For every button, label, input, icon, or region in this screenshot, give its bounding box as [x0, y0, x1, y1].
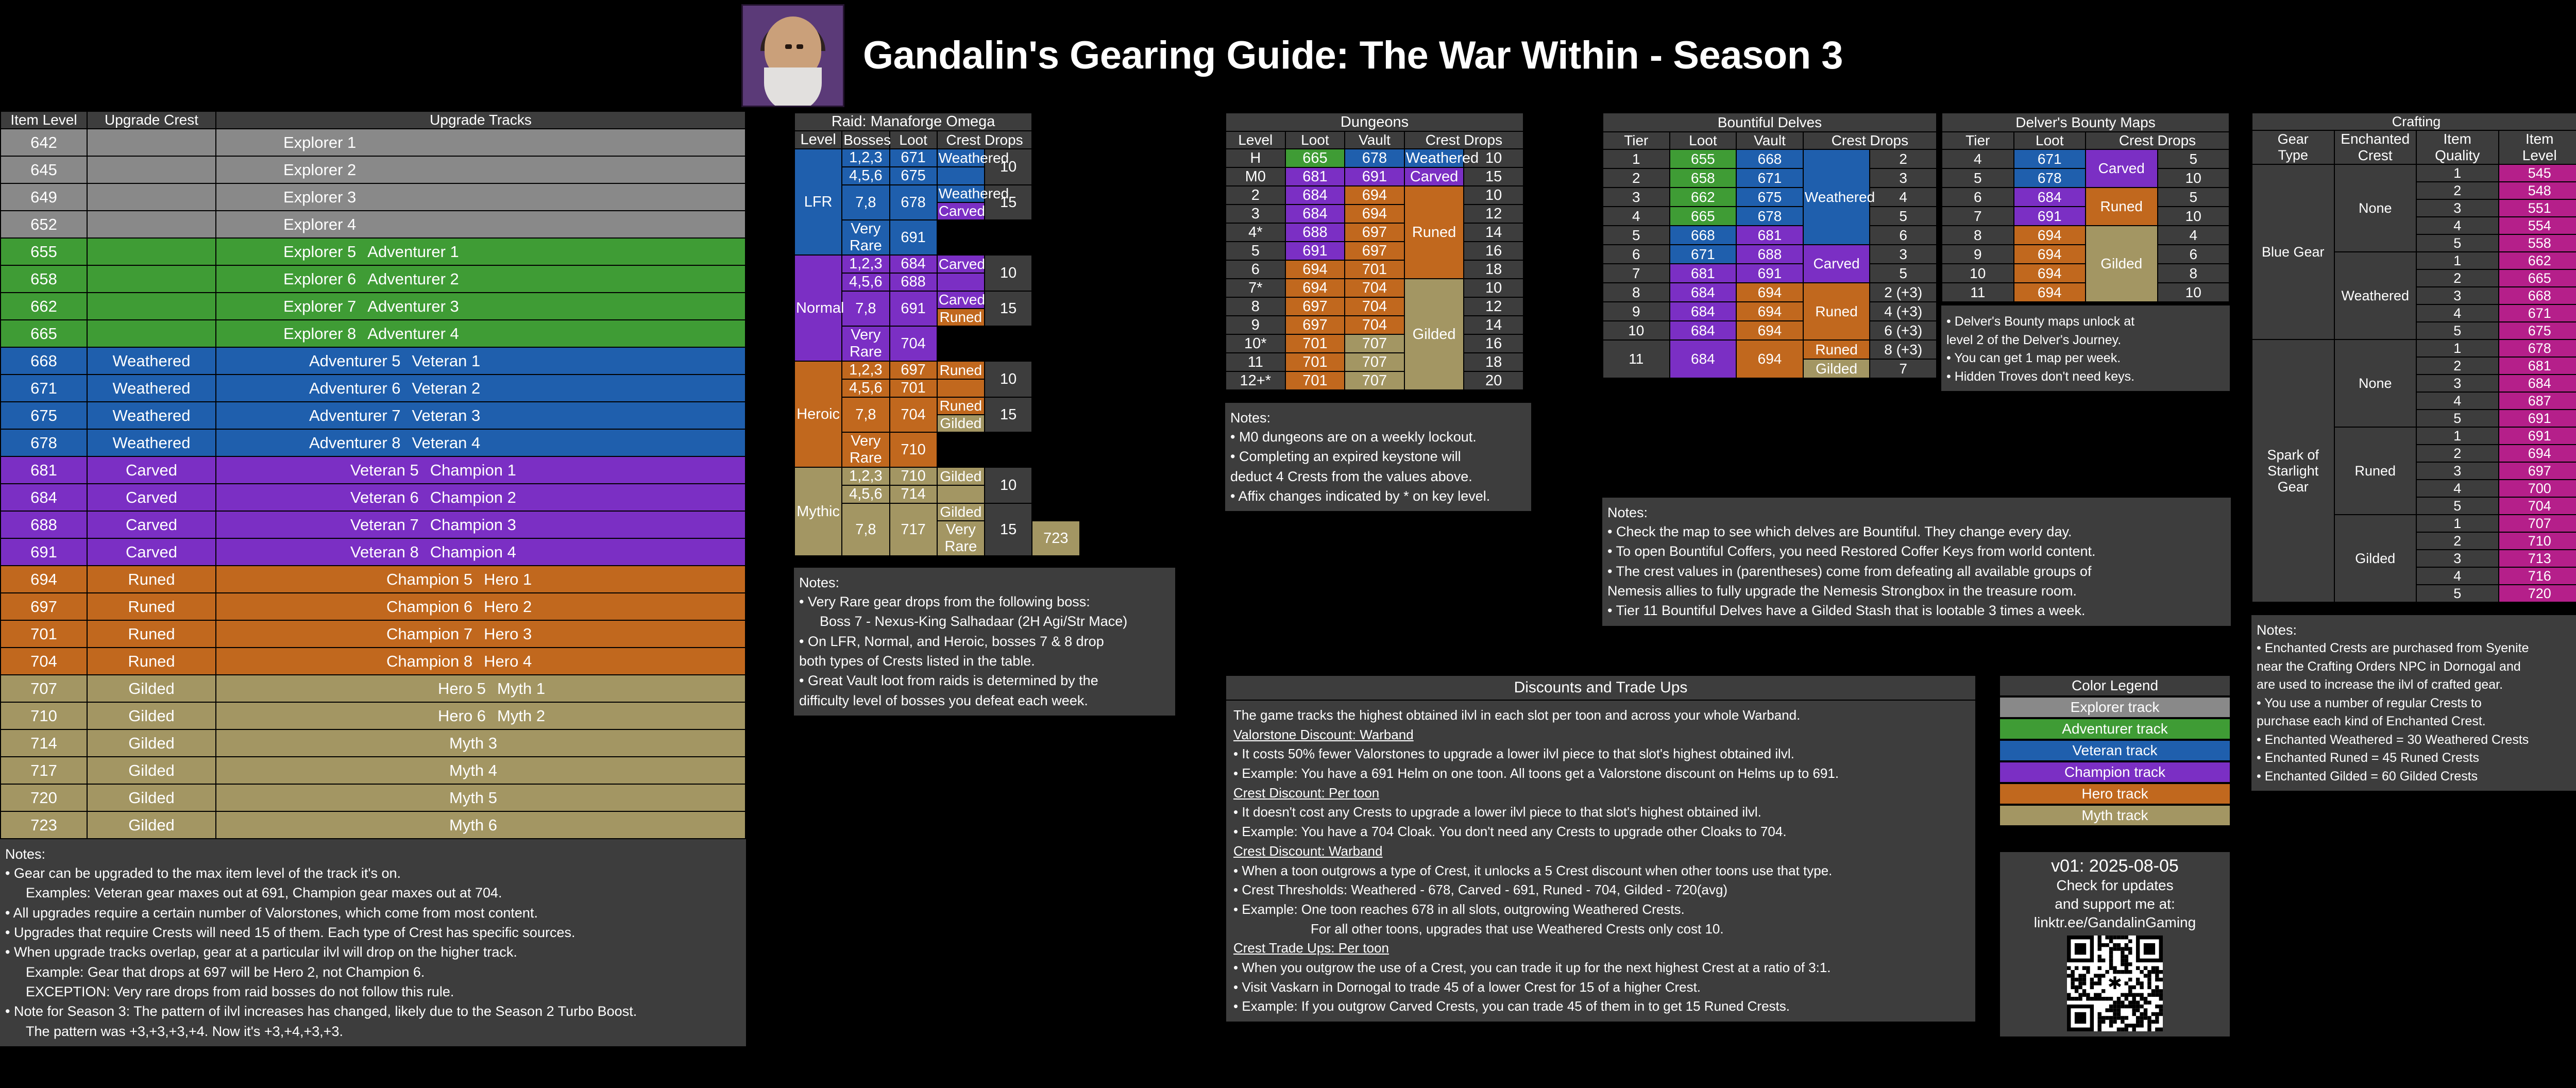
cell-item-level: 548	[2499, 182, 2576, 199]
track-primary: Explorer 5	[283, 243, 356, 261]
cell-loot: 701	[1285, 353, 1345, 371]
cell-bosses: 1,2,3	[842, 467, 889, 485]
track-primary: Hero 6	[438, 707, 486, 725]
cell-crest-count: 4	[2158, 226, 2230, 245]
cell-upgrade-crest: Weathered	[87, 429, 216, 456]
cell-item-quality: 2	[2416, 182, 2499, 199]
table-row: 694RunedChampion 5Hero 1	[1, 566, 745, 593]
col-item-level: Item Level	[1, 111, 87, 129]
cell-crest-count: 18	[1464, 260, 1523, 279]
cell-crest-count: 4 (+3)	[1870, 302, 1937, 321]
cell-tier: 7	[1603, 264, 1670, 283]
cell-vault: 668	[1736, 149, 1803, 168]
cell-item-quality: 4	[2416, 392, 2499, 410]
discount-line: • It doesn't cost any Crests to upgrade …	[1233, 803, 1968, 822]
cell-item-quality: 1	[2416, 515, 2499, 532]
cell-upgrade-crest: Gilded	[87, 675, 216, 702]
cell-crest-cont	[937, 167, 985, 185]
cell-crest: Gilded	[937, 415, 985, 432]
cell-crest-count: 5	[1870, 207, 1937, 226]
table-row: 668WeatheredAdventurer 5Veteran 1	[1, 347, 745, 375]
legend-item-myth: Myth track	[1999, 805, 2231, 826]
version-box: v01: 2025-08-05 Check for updates and su…	[1999, 851, 2231, 1038]
cell-vault: 694	[1736, 283, 1803, 302]
cell-vault: 697	[1345, 223, 1404, 242]
table-row: 691CarvedVeteran 8Champion 4	[1, 538, 745, 566]
cell-crest: Runed	[2086, 188, 2158, 226]
cell-crest: Carved	[937, 255, 985, 273]
cell-crest: Gilded	[1803, 359, 1870, 378]
cell-crest-count: 10	[1464, 279, 1523, 297]
cell-tier: 2	[1603, 168, 1670, 188]
cell-enchanted-crest: Runed	[2334, 427, 2417, 515]
cell-item-quality: 3	[2416, 287, 2499, 304]
cell-upgrade-tracks: Champion 5Hero 1	[216, 566, 745, 593]
track-primary: Veteran 8	[350, 543, 419, 562]
cell-item-level: 700	[2499, 480, 2576, 497]
cell-loot: 681	[1285, 167, 1345, 186]
track-primary: Veteran 7	[350, 516, 419, 534]
table-row: 678WeatheredAdventurer 8Veteran 4	[1, 429, 745, 456]
table-row: 714GildedMyth 3	[1, 729, 745, 757]
table-row: 7,8717Gilded15	[794, 503, 1175, 521]
cell-loot: 684	[1285, 205, 1345, 223]
note-line: • Enchanted Crests are purchased from Sy…	[2257, 639, 2576, 658]
cell-vault: 697	[1345, 242, 1404, 260]
cell-count-empty	[985, 220, 1032, 255]
upgrade-tracks-table: Item LevelUpgrade CrestUpgrade Tracks642…	[0, 111, 746, 839]
cell-level: H	[1226, 149, 1285, 167]
table-row: Spark of Starlight GearNone1678	[2252, 339, 2576, 357]
note-line: • Delver's Bounty maps unlock at	[1946, 313, 2225, 331]
discount-line: For all other toons, upgrades that use W…	[1233, 920, 1968, 939]
table-row: 675WeatheredAdventurer 7Veteran 3	[1, 402, 745, 429]
cell-loot: 665	[1285, 149, 1345, 167]
cell-crest: Gilded	[1404, 279, 1464, 390]
version-note-line1: Check for updates	[2005, 876, 2225, 895]
cell-item-quality: 1	[2416, 164, 2499, 182]
cell-bosses: 1,2,3	[842, 361, 889, 379]
cell-crest-empty	[937, 220, 985, 255]
cell-loot: 694	[2014, 226, 2086, 245]
cell-upgrade-tracks: Champion 7Hero 3	[216, 620, 745, 648]
cell-level: 10*	[1226, 334, 1285, 353]
cell-vault: 704	[1345, 279, 1404, 297]
qr-code[interactable]: ✱	[2067, 936, 2163, 1031]
track-secondary: Veteran 4	[412, 434, 481, 452]
cell-tier: 9	[1603, 302, 1670, 321]
note-line: • When upgrade tracks overlap, gear at a…	[5, 942, 741, 962]
cell-upgrade-crest: Runed	[87, 648, 216, 675]
cell-upgrade-tracks: Veteran 7Champion 3	[216, 511, 745, 538]
cell-upgrade-tracks: Champion 6Hero 2	[216, 593, 745, 620]
cell-crest: Runed	[937, 397, 985, 415]
table-row: 652Explorer 4	[1, 211, 745, 238]
cell-upgrade-crest: Carved	[87, 511, 216, 538]
cell-enchanted-crest: Weathered	[2334, 252, 2417, 339]
discount-line: • When you outgrow the use of a Crest, y…	[1233, 958, 1968, 978]
cell-item-level: 691	[2499, 410, 2576, 427]
cell-item-quality: 1	[2416, 252, 2499, 269]
note-line: • All upgrades require a certain number …	[5, 903, 741, 923]
col-gear-type: GearType	[2252, 130, 2334, 164]
table-row: Very Rare710	[794, 432, 1175, 467]
discount-line: • Example: One toon reaches 678 in all s…	[1233, 900, 1968, 920]
discounts-panel: Discounts and Trade Ups The game tracks …	[1225, 675, 1976, 1023]
note-line: • Gear can be upgraded to the max item l…	[5, 863, 741, 883]
table-row: 645Explorer 2	[1, 156, 745, 183]
table-row: 7,8704Runed15	[794, 397, 1175, 415]
cell-tier: 4	[1942, 149, 2014, 168]
cell-level: 2	[1226, 186, 1285, 205]
cell-item-level: 642	[1, 129, 87, 156]
version-note-line2: and support me at:	[2005, 895, 2225, 913]
note-line: level 2 of the Delver's Journey.	[1946, 331, 2225, 350]
col-enchanted-crest: EnchantedCrest	[2334, 130, 2417, 164]
cell-item-level: 687	[2499, 392, 2576, 410]
cell-level: 4*	[1226, 223, 1285, 242]
cell-upgrade-crest: Gilded	[87, 784, 216, 811]
table-row: 6684Runed5	[1942, 188, 2229, 207]
cell-upgrade-tracks: Explorer 7Adventurer 3	[216, 293, 745, 320]
cell-item-level: 655	[1, 238, 87, 265]
cell-upgrade-tracks: Explorer 2	[216, 156, 745, 183]
cell-enchanted-crest: None	[2334, 164, 2417, 252]
cell-crest-cont	[937, 485, 985, 503]
cell-item-level: 684	[2499, 375, 2576, 392]
cell-crest-count: 3	[1870, 245, 1937, 264]
cell-item-level: 716	[2499, 567, 2576, 585]
table-row: 2684694Runed10	[1226, 186, 1523, 205]
crafting-table: CraftingGearTypeEnchantedCrestItemQualit…	[2251, 112, 2576, 603]
avatar-eye-right-icon	[796, 44, 803, 49]
cell-loot: 701	[1285, 334, 1345, 353]
track-secondary: Champion 2	[430, 488, 516, 507]
cell-crest: Carved	[937, 202, 985, 220]
note-line: • Enchanted Gilded = 60 Gilded Crests	[2257, 768, 2576, 786]
cell-level: M0	[1226, 167, 1285, 186]
cell-level: Normal	[794, 255, 842, 361]
color-legend-title: Color Legend	[1999, 675, 2231, 696]
cell-item-quality: 2	[2416, 357, 2499, 375]
track-primary: Adventurer 5	[309, 352, 401, 370]
cell-loot: 688	[1285, 223, 1345, 242]
table-row: 36626754	[1603, 188, 1937, 207]
cell-upgrade-crest	[87, 265, 216, 293]
discount-line: • It costs 50% fewer Valorstones to upgr…	[1233, 744, 1968, 764]
table-row: 1170170718	[1226, 353, 1523, 371]
col-vault: Vault	[1345, 131, 1404, 149]
table-row: Heroic1,2,3697Runed10	[794, 361, 1175, 379]
cell-crest-count: 2 (+3)	[1870, 283, 1937, 302]
delvers-bounty-maps-panel: Delver's Bounty MapsTierLootCrest Drops4…	[1941, 112, 2230, 391]
cell-crest-count: 15	[985, 503, 1032, 556]
cell-bosses: 7,8	[842, 185, 889, 220]
cell-crest: Carved	[1803, 245, 1870, 283]
cell-item-quality: 2	[2416, 532, 2499, 550]
track-primary: Explorer 2	[283, 161, 356, 179]
delves-notes: Notes:• Check the map to see which delve…	[1602, 498, 2231, 626]
note-line: • Completing an expired keystone will	[1230, 447, 1526, 466]
table-row: 7,8678Weathered15	[794, 185, 1175, 202]
cell-item-level: 678	[1, 429, 87, 456]
table-row: 1655668Weathered2	[1603, 149, 1937, 168]
cell-upgrade-crest	[87, 211, 216, 238]
table-row: 96846944 (+3)	[1603, 302, 1937, 321]
note-line: • You use a number of regular Crests to	[2257, 694, 2576, 713]
cell-item-level: 652	[1, 211, 87, 238]
crafting-notes: Notes:• Enchanted Crests are purchased f…	[2251, 615, 2576, 791]
cell-upgrade-crest: Runed	[87, 566, 216, 593]
cell-crest: Gilded	[937, 503, 985, 521]
cell-upgrade-tracks: Explorer 1	[216, 129, 745, 156]
cell-loot: 684	[1670, 302, 1737, 321]
table-row: 658Explorer 6Adventurer 2	[1, 265, 745, 293]
table-row: 56686816	[1603, 226, 1937, 245]
note-line: near the Crafting Orders NPC in Dornogal…	[2257, 658, 2576, 676]
cell-upgrade-crest: Gilded	[87, 811, 216, 839]
legend-item-hero: Hero track	[1999, 783, 2231, 805]
cell-item-quality: 2	[2416, 445, 2499, 462]
cell-level: 12+*	[1226, 371, 1285, 390]
cell-level: 5	[1226, 242, 1285, 260]
cell-crest-count: 8 (+3)	[1870, 340, 1937, 359]
table-row: 7,8691Carved15	[794, 291, 1175, 309]
col-vault: Vault	[1736, 132, 1803, 149]
col-tier: Tier	[1603, 132, 1670, 149]
cell-crest-count: 5	[1870, 264, 1937, 283]
discount-line: • When a toon outgrows a type of Crest, …	[1233, 861, 1968, 881]
track-primary: Adventurer 7	[309, 406, 401, 425]
legend-item-champion: Champion track	[1999, 761, 2231, 783]
table-row: 10*70170716	[1226, 334, 1523, 353]
dungeons-panel: DungeonsLevelLootVaultCrest DropsH665678…	[1225, 112, 1524, 511]
note-line: • You can get 1 map per week.	[1946, 349, 2225, 368]
cell-item-level: 691	[1, 538, 87, 566]
cell-loot: 701	[890, 379, 937, 397]
cell-gear-type: Spark of Starlight Gear	[2252, 339, 2334, 602]
cell-level: 11	[1226, 353, 1285, 371]
track-primary: Veteran 5	[350, 461, 419, 480]
cell-upgrade-tracks: Explorer 5Adventurer 1	[216, 238, 745, 265]
note-line: • Enchanted Runed = 45 Runed Crests	[2257, 749, 2576, 768]
cell-tier: 9	[1942, 245, 2014, 264]
table-row: Mythic1,2,3710Gilded10	[794, 467, 1175, 485]
table-row: 869770412	[1226, 297, 1523, 316]
cell-enchanted-crest: Gilded	[2334, 515, 2417, 602]
cell-crest-count: 2	[1870, 149, 1937, 168]
cell-item-level: 681	[1, 456, 87, 484]
cell-tier: 5	[1603, 226, 1670, 245]
cell-enchanted-crest: None	[2334, 339, 2417, 427]
cell-item-level: 668	[1, 347, 87, 375]
cell-crest-count: 10	[2158, 207, 2230, 226]
cell-item-quality: 3	[2416, 375, 2499, 392]
dungeons-title: Dungeons	[1226, 113, 1523, 131]
cell-bosses: 4,5,6	[842, 167, 889, 185]
cell-item-quality: 1	[2416, 427, 2499, 445]
cell-crest: Weathered	[937, 185, 985, 202]
cell-upgrade-crest: Weathered	[87, 402, 216, 429]
cell-loot: 684	[1285, 186, 1345, 205]
col-item-quality: ItemQuality	[2416, 130, 2499, 164]
cell-upgrade-tracks: Myth 6	[216, 811, 745, 839]
cell-tier: 1	[1603, 149, 1670, 168]
svg-text:✱: ✱	[2108, 973, 2123, 994]
cell-crest: Runed	[1803, 283, 1870, 340]
track-primary: Explorer 7	[283, 297, 356, 316]
cell-item-level: 684	[1, 484, 87, 511]
cell-loot: 675	[890, 167, 937, 185]
track-primary: Explorer 3	[283, 188, 356, 207]
table-row: Normal1,2,3684Carved10	[794, 255, 1175, 273]
cell-vault: 707	[1345, 334, 1404, 353]
cell-tier: 8	[1603, 283, 1670, 302]
cell-item-level: 665	[2499, 269, 2576, 287]
cell-loot: 668	[1670, 226, 1737, 245]
cell-item-level: 645	[1, 156, 87, 183]
table-row: Very Rare691	[794, 220, 1175, 255]
cell-vault: 691	[1345, 167, 1404, 186]
cell-bosses: 4,5,6	[842, 273, 889, 291]
cell-item-level: 681	[2499, 357, 2576, 375]
delves-title: Bountiful Delves	[1603, 113, 1937, 132]
cell-upgrade-tracks: Veteran 8Champion 4	[216, 538, 745, 566]
note-line: EXCEPTION: Very rare drops from raid bos…	[5, 982, 741, 1001]
track-secondary: Myth 2	[497, 707, 545, 725]
discounts-title: Discounts and Trade Ups	[1225, 675, 1976, 701]
track-secondary: Adventurer 2	[367, 270, 459, 288]
cell-crest-count: 15	[985, 291, 1032, 326]
cell-item-level: 688	[1, 511, 87, 538]
track-secondary: Hero 1	[484, 570, 532, 589]
cell-crest-count: 10	[985, 361, 1032, 397]
discount-line: • Example: You have a 691 Helm on one to…	[1233, 764, 1968, 784]
notes-title: Notes:	[799, 575, 1170, 591]
avatar-beard-icon	[764, 67, 822, 107]
cell-loot: 691	[890, 291, 937, 326]
cell-item-quality: 4	[2416, 480, 2499, 497]
cell-crest-count: 5	[2158, 149, 2230, 168]
col-level: Level	[794, 131, 842, 149]
raid-table: Raid: Manaforge OmegaLevelBossesLootCres…	[794, 112, 1175, 556]
track-secondary: Champion 4	[430, 543, 516, 562]
cell-crest: Runed	[1803, 340, 1870, 359]
cell-upgrade-tracks: Explorer 4	[216, 211, 745, 238]
note-line: purchase each kind of Enchanted Crest.	[2257, 712, 2576, 731]
cell-crest-count: 12	[1464, 297, 1523, 316]
discount-line: • Visit Vaskarn in Dornogal to trade 45 …	[1233, 978, 1968, 997]
note-line: Examples: Veteran gear maxes out at 691,…	[5, 883, 741, 903]
cell-upgrade-crest: Weathered	[87, 347, 216, 375]
cell-crest-count: 6	[2158, 245, 2230, 264]
cell-loot: 704	[890, 326, 937, 361]
delvers-bounty-maps-table: Delver's Bounty MapsTierLootCrest Drops4…	[1941, 112, 2230, 302]
color-legend-panel: Color Legend Explorer trackAdventurer tr…	[1999, 675, 2231, 1038]
cell-crest: Carved	[2086, 149, 2158, 188]
cell-item-level: 665	[1, 320, 87, 347]
support-link[interactable]: linktr.ee/GandalinGaming	[2005, 913, 2225, 932]
cell-vault: 701	[1345, 260, 1404, 279]
table-row: Blue GearNone1545	[2252, 164, 2576, 182]
cell-tier: 11	[1942, 283, 2014, 302]
col-crest-drops: Crest Drops	[937, 131, 1032, 149]
col-crest-drops: Crest Drops	[1404, 131, 1523, 149]
table-row: 12+*70170720	[1226, 371, 1523, 390]
table-row: 569169716	[1226, 242, 1523, 260]
cell-loot: 691	[890, 220, 937, 255]
cell-vault: 675	[1736, 188, 1803, 207]
legend-item-adventurer: Adventurer track	[1999, 718, 2231, 740]
cell-item-level: 678	[2499, 339, 2576, 357]
cell-item-level: 694	[2499, 445, 2576, 462]
cell-loot: 710	[890, 432, 937, 467]
cell-loot: 694	[1285, 279, 1345, 297]
cell-item-quality: 3	[2416, 550, 2499, 567]
track-primary: Explorer 8	[283, 325, 356, 343]
cell-vault: 694	[1345, 186, 1404, 205]
col-level: Level	[1226, 131, 1285, 149]
cell-upgrade-tracks: Champion 8Hero 4	[216, 648, 745, 675]
cell-count-empty	[1127, 521, 1175, 556]
cell-upgrade-tracks: Explorer 6Adventurer 2	[216, 265, 745, 293]
cell-count-empty	[985, 432, 1032, 467]
note-line: Example: Gear that drops at 697 will be …	[5, 962, 741, 982]
table-row: 717GildedMyth 4	[1, 757, 745, 784]
cell-crest: Runed	[937, 361, 985, 379]
track-secondary: Adventurer 3	[367, 297, 459, 316]
track-primary: Champion 8	[386, 652, 472, 671]
note-line: • Hidden Troves don't need keys.	[1946, 368, 2225, 386]
cell-crest: Carved	[937, 291, 985, 309]
cell-upgrade-crest	[87, 238, 216, 265]
cell-tier: 11	[1603, 340, 1670, 378]
cell-upgrade-tracks: Myth 5	[216, 784, 745, 811]
cell-vault: 704	[1345, 316, 1404, 334]
table-row: 723GildedMyth 6	[1, 811, 745, 839]
track-primary: Champion 5	[386, 570, 472, 589]
cell-loot: 691	[2014, 207, 2086, 226]
cell-item-level: 717	[1, 757, 87, 784]
note-line: • Tier 11 Bountiful Delves have a Gilded…	[1607, 601, 2226, 620]
cell-upgrade-crest	[87, 320, 216, 347]
cell-crest-count: 18	[1464, 353, 1523, 371]
table-row: 720GildedMyth 5	[1, 784, 745, 811]
cell-loot: 662	[1670, 188, 1737, 207]
cell-loot: 688	[890, 273, 937, 291]
track-secondary: Myth 4	[449, 761, 497, 780]
cell-crest: Carved	[1404, 167, 1464, 186]
cell-item-level: 720	[2499, 585, 2576, 602]
note-line: • Enchanted Weathered = 30 Weathered Cre…	[2257, 731, 2576, 750]
discount-section-heading: Valorstone Discount: Warband	[1233, 725, 1968, 745]
bountiful-delves-panel: Bountiful DelvesTierLootVaultCrest Drops…	[1602, 112, 1937, 379]
cell-crest-count: 10	[1464, 186, 1523, 205]
cell-upgrade-tracks: Explorer 8Adventurer 4	[216, 320, 745, 347]
cell-vault: 694	[1345, 205, 1404, 223]
cell-level: 3	[1226, 205, 1285, 223]
note-line: difficulty level of bosses you defeat ea…	[799, 691, 1170, 710]
discount-section-heading: Crest Trade Ups: Per toon	[1233, 939, 1968, 958]
cell-item-level: 694	[1, 566, 87, 593]
track-primary: Adventurer 8	[309, 434, 401, 452]
dungeons-table: DungeonsLevelLootVaultCrest DropsH665678…	[1225, 112, 1524, 390]
col-item-level: ItemLevel	[2499, 130, 2576, 164]
cell-item-level: 658	[1, 265, 87, 293]
track-secondary: Veteran 1	[412, 352, 481, 370]
cell-loot: 717	[890, 503, 937, 556]
cell-item-level: 697	[1, 593, 87, 620]
